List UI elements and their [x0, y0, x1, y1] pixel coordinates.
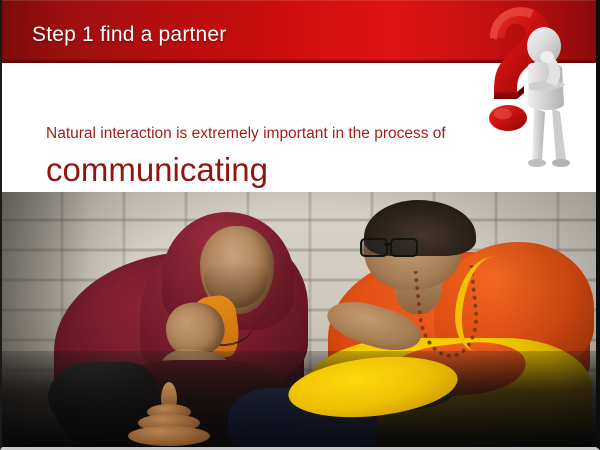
glasses-right-lens [390, 238, 418, 257]
glasses-left-lens [360, 238, 388, 257]
photo-inner [2, 192, 600, 447]
offering-tier-base [128, 426, 210, 446]
slide-title: Step 1 find a partner [32, 22, 227, 48]
presentation-slide: Step 1 find a partner [0, 0, 600, 450]
slide-photo [2, 192, 600, 447]
body-line-emphasis: communicating [46, 150, 268, 190]
elder-glasses-icon [360, 238, 422, 254]
photo-ritual-offering [128, 380, 210, 446]
body-line-primary: Natural interaction is extremely importa… [46, 124, 446, 144]
